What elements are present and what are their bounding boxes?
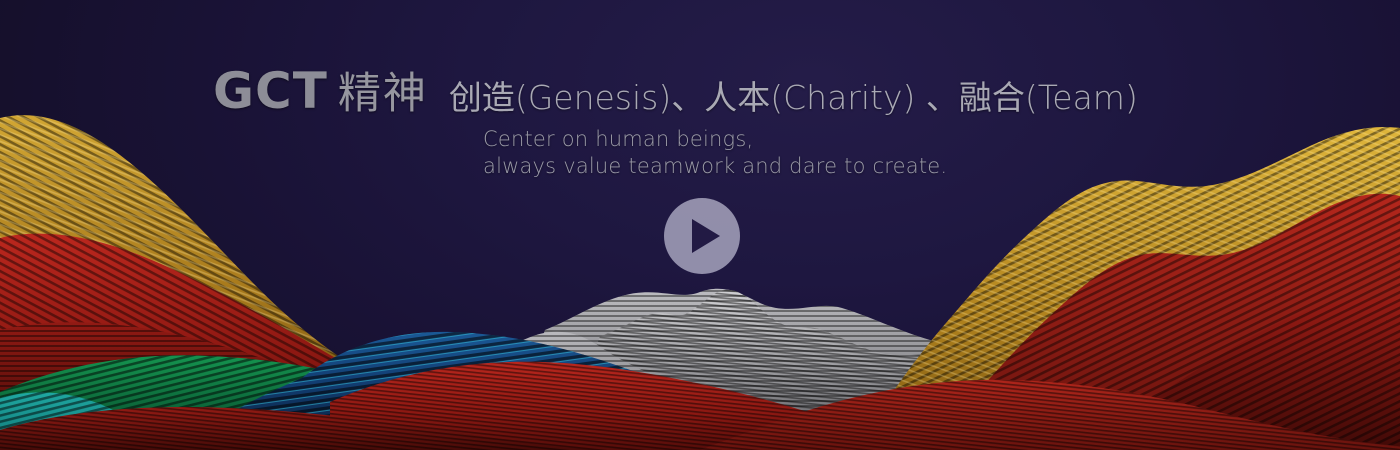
play-icon — [692, 219, 720, 253]
brand-chinese: 精神 — [338, 69, 428, 119]
brand-logo: GCT精神 — [213, 66, 428, 116]
slogan-english: Center on human beings, always value tea… — [483, 126, 947, 180]
slogan-chinese: 创造(Genesis)、人本(Charity) 、融合(Team) — [449, 81, 1138, 116]
brand-latin: GCT — [213, 62, 328, 120]
slogan-english-line-2: always value teamwork and dare to create… — [483, 153, 947, 180]
slogan-english-line-1: Center on human beings, — [483, 126, 947, 153]
play-video-button[interactable] — [664, 198, 740, 274]
headline-row: GCT精神 创造(Genesis)、人本(Charity) 、融合(Team) — [213, 66, 1138, 116]
hero-banner: GCT精神 创造(Genesis)、人本(Charity) 、融合(Team) … — [0, 0, 1400, 450]
